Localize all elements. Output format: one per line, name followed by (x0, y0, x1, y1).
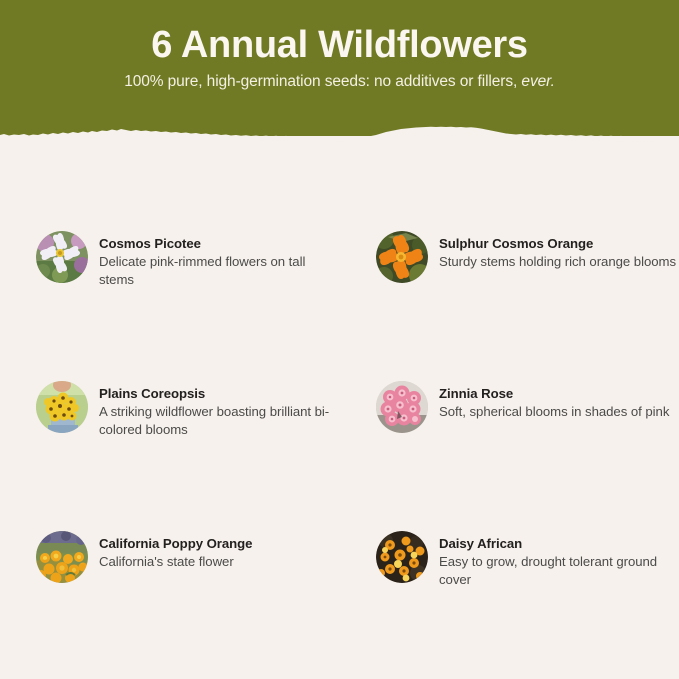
header-banner: 6 Annual Wildflowers 100% pure, high-ger… (0, 0, 679, 136)
item-text-block: Cosmos Picotee Delicate pink-rimmed flow… (99, 226, 337, 288)
daisy-african-photo (376, 531, 428, 583)
list-item[interactable]: Zinnia Rose Soft, spherical blooms in sh… (340, 376, 679, 526)
item-title: California Poppy Orange (99, 535, 252, 552)
wildflower-list: Cosmos Picotee Delicate pink-rimmed flow… (0, 226, 679, 676)
item-title: Plains Coreopsis (99, 385, 337, 402)
cosmos-picotee-photo (36, 231, 88, 283)
list-item[interactable]: Plains Coreopsis A striking wildflower b… (0, 376, 340, 526)
item-title: Cosmos Picotee (99, 235, 337, 252)
item-text-block: Plains Coreopsis A striking wildflower b… (99, 376, 337, 438)
item-description: Easy to grow, drought tolerant ground co… (439, 553, 677, 588)
zinnia-rose-photo (376, 381, 428, 433)
item-description: California's state flower (99, 553, 252, 571)
item-text-block: Sulphur Cosmos Orange Sturdy stems holdi… (439, 226, 676, 271)
item-description: A striking wildflower boasting brilliant… (99, 403, 337, 438)
item-description: Delicate pink-rimmed flowers on tall ste… (99, 253, 337, 288)
item-text-block: California Poppy Orange California's sta… (99, 526, 252, 571)
list-item[interactable]: Cosmos Picotee Delicate pink-rimmed flow… (0, 226, 340, 376)
sulphur-cosmos-orange-photo (376, 231, 428, 283)
item-title: Sulphur Cosmos Orange (439, 235, 676, 252)
item-text-block: Daisy African Easy to grow, drought tole… (439, 526, 677, 588)
california-poppy-orange-photo (36, 531, 88, 583)
page-title: 6 Annual Wildflowers (0, 0, 679, 67)
item-title: Daisy African (439, 535, 677, 552)
item-text-block: Zinnia Rose Soft, spherical blooms in sh… (439, 376, 669, 421)
page-subtitle: 100% pure, high-germination seeds: no ad… (0, 67, 679, 92)
list-item[interactable]: California Poppy Orange California's sta… (0, 526, 340, 676)
item-description: Sturdy stems holding rich orange blooms (439, 253, 676, 271)
header-banner-content: 6 Annual Wildflowers 100% pure, high-ger… (0, 0, 679, 92)
page-subtitle-emphasis: ever. (521, 73, 554, 90)
item-title: Zinnia Rose (439, 385, 669, 402)
plains-coreopsis-photo (36, 381, 88, 433)
list-item[interactable]: Daisy African Easy to grow, drought tole… (340, 526, 679, 676)
page-subtitle-lead: 100% pure, high-germination seeds: no ad… (124, 73, 521, 90)
list-item[interactable]: Sulphur Cosmos Orange Sturdy stems holdi… (340, 226, 679, 376)
item-description: Soft, spherical blooms in shades of pink (439, 403, 669, 421)
